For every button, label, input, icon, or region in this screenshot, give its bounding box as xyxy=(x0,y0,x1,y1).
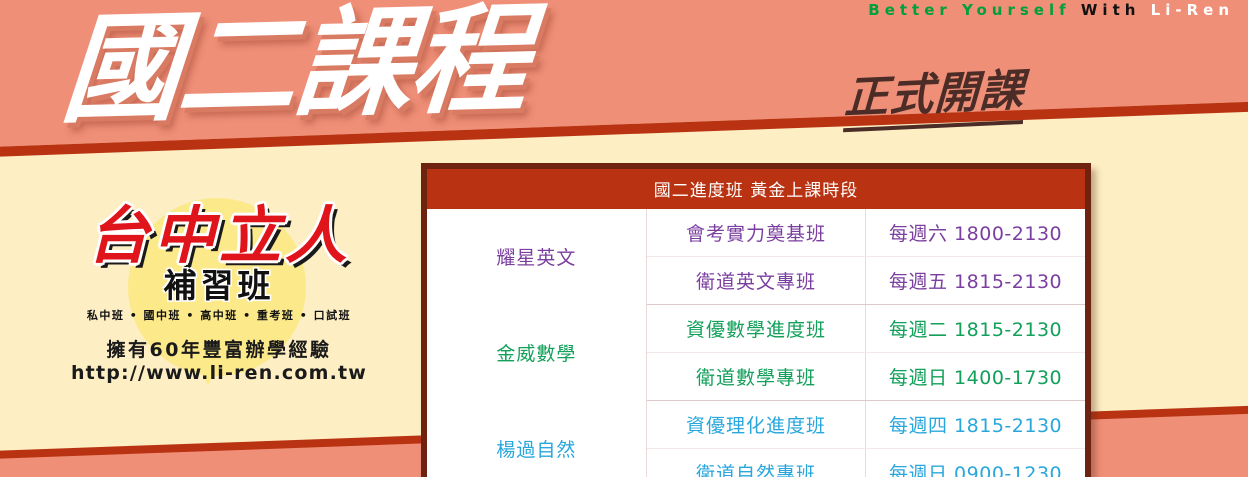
course-cell: 資優理化進度班 xyxy=(646,401,865,449)
logo-brand-type: 補習班 xyxy=(34,269,404,304)
logo-website-url[interactable]: http://www.li-ren.com.tw xyxy=(34,362,404,386)
tagline: Better Yourself With Li-Ren xyxy=(868,1,1234,19)
teacher-cell: 金威數學 xyxy=(427,305,646,401)
time-cell: 每週二 1815-2130 xyxy=(866,305,1085,353)
teacher-cell: 耀星英文 xyxy=(427,209,646,305)
time-cell: 每週日 0900-1230 xyxy=(866,449,1085,477)
brand-logo: 台中立人 補習班 私中班 • 國中班 • 高中班 • 重考班 • 口試班 擁有6… xyxy=(34,205,404,386)
teacher-cell: 楊過自然 xyxy=(427,401,646,477)
table-row: 楊過自然 資優理化進度班 每週四 1815-2130 xyxy=(427,401,1085,449)
time-cell: 每週日 1400-1730 xyxy=(866,353,1085,401)
course-cell: 資優數學進度班 xyxy=(646,305,865,353)
course-cell: 衛道自然專班 xyxy=(646,449,865,477)
tagline-part-1: Better Yourself xyxy=(868,1,1070,19)
page-title: 國二課程 xyxy=(58,0,532,134)
tagline-part-2: With xyxy=(1081,1,1141,19)
course-cell: 衛道數學專班 xyxy=(646,353,865,401)
course-cell: 會考實力奠基班 xyxy=(646,209,865,257)
schedule-table: 國二進度班 黃金上課時段 耀星英文 會考實力奠基班 每週六 1800-2130 … xyxy=(427,169,1085,477)
table-row: 金威數學 資優數學進度班 每週二 1815-2130 xyxy=(427,305,1085,353)
page-subtitle: 正式開課 xyxy=(843,54,1026,132)
logo-brand-name: 台中立人 xyxy=(34,205,404,267)
schedule-table-header: 國二進度班 黃金上課時段 xyxy=(427,169,1085,209)
table-row: 耀星英文 會考實力奠基班 每週六 1800-2130 xyxy=(427,209,1085,257)
logo-class-list: 私中班 • 國中班 • 高中班 • 重考班 • 口試班 xyxy=(34,307,404,323)
time-cell: 每週六 1800-2130 xyxy=(866,209,1085,257)
tagline-part-3: Li-Ren xyxy=(1151,1,1234,19)
time-cell: 每週四 1815-2130 xyxy=(866,401,1085,449)
schedule-table-body: 耀星英文 會考實力奠基班 每週六 1800-2130 衛道英文專班 每週五 18… xyxy=(427,209,1085,477)
logo-experience: 擁有60年豐富辦學經驗 xyxy=(34,339,404,363)
course-cell: 衛道英文專班 xyxy=(646,257,865,305)
promotional-banner: Better Yourself With Li-Ren 國二課程 正式開課 台中… xyxy=(0,0,1248,477)
time-cell: 每週五 1815-2130 xyxy=(866,257,1085,305)
schedule-table-container: 國二進度班 黃金上課時段 耀星英文 會考實力奠基班 每週六 1800-2130 … xyxy=(421,163,1091,477)
